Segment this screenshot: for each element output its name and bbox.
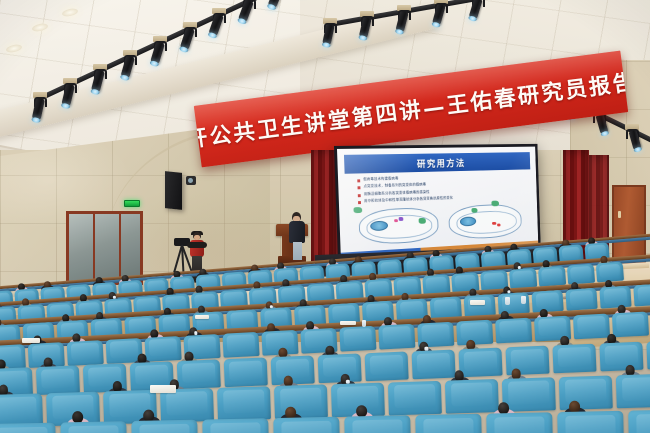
auditorium-seat[interactable] xyxy=(144,336,181,362)
bullet-marker-icon xyxy=(358,179,361,182)
auditorium-seat[interactable] xyxy=(445,379,499,414)
auditorium-seat[interactable] xyxy=(339,326,376,352)
lecture-hall-photo: 南开公共卫生讲堂第四讲—王佑春研究员报告会 研究用方法 假病毒技术构建假病毒点突… xyxy=(0,0,650,433)
handout-paper xyxy=(340,321,356,325)
auditorium-seat[interactable] xyxy=(344,415,411,433)
auditorium-seat[interactable] xyxy=(160,388,214,423)
auditorium-seat[interactable] xyxy=(60,421,127,433)
auditorium-seat[interactable] xyxy=(36,365,80,395)
auditorium-seat[interactable] xyxy=(273,417,340,433)
virus-particle xyxy=(419,217,426,223)
auditorium-seat[interactable] xyxy=(388,381,442,416)
surveillance-camera-icon xyxy=(186,176,196,185)
auditorium-seat[interactable] xyxy=(224,357,268,387)
auditorium-seat[interactable] xyxy=(274,384,328,419)
auditorium-seat[interactable] xyxy=(202,418,269,433)
bullet-marker-icon xyxy=(358,201,361,204)
slide-title-text: 研究用方法 xyxy=(417,156,466,170)
auditorium-seat[interactable] xyxy=(633,284,650,307)
auditorium-seat[interactable] xyxy=(486,412,553,433)
slide-figures xyxy=(352,201,527,249)
water-bottle xyxy=(505,297,510,305)
gene-bar-track xyxy=(463,229,509,236)
protein-marker xyxy=(394,219,398,222)
virus-particle xyxy=(491,201,499,207)
auditorium-seat[interactable] xyxy=(0,423,56,433)
slide-bullet-text: 用中和抗体及中和性单克隆抗体分析各突变株抗原性的变化 xyxy=(364,195,453,203)
nucleus-shape xyxy=(460,216,476,226)
wall-speaker xyxy=(165,171,182,210)
antibody-marker xyxy=(492,222,496,225)
water-bottle xyxy=(521,296,526,304)
protein-marker xyxy=(399,217,404,221)
operator-arms xyxy=(187,242,207,248)
slide-bullet-text: 假病毒技术构建假病毒 xyxy=(363,177,398,182)
auditorium-seat[interactable] xyxy=(559,375,613,410)
auditorium-seat[interactable] xyxy=(646,340,650,370)
slide-bullet-text: 点突变技术，制备系列的突变体的假病毒 xyxy=(363,183,426,189)
auditorium-seat[interactable] xyxy=(531,290,563,313)
handout-paper xyxy=(22,338,40,343)
auditorium-seat[interactable] xyxy=(502,377,556,412)
presentation-slide: 研究用方法 假病毒技术构建假病毒点突变技术，制备系列的突变体的假病毒用酶活细胞系… xyxy=(337,147,538,257)
auditorium-seat[interactable] xyxy=(552,344,596,374)
virus-particle xyxy=(354,207,363,213)
auditorium-seat[interactable] xyxy=(557,411,624,433)
cell-diagram-right xyxy=(448,204,522,240)
auditorium-seat[interactable] xyxy=(628,409,650,433)
side-exit-door[interactable] xyxy=(66,211,143,285)
handout-paper xyxy=(150,385,176,393)
auditorium-seat[interactable] xyxy=(495,318,532,344)
auditorium-seat[interactable] xyxy=(177,359,221,389)
auditorium-seat[interactable] xyxy=(616,374,650,409)
auditorium-seat[interactable] xyxy=(509,268,537,289)
auditorium-seat[interactable] xyxy=(565,288,597,311)
antibody-marker xyxy=(497,224,500,227)
nucleus-shape xyxy=(371,220,389,231)
water-bottle xyxy=(362,320,366,327)
auditorium-seat[interactable] xyxy=(222,332,259,358)
auditorium-seat[interactable] xyxy=(131,420,198,433)
auditorium-seat[interactable] xyxy=(415,414,482,433)
gene-bar-track xyxy=(374,233,424,240)
auditorium-seat[interactable] xyxy=(599,342,643,372)
presenter-legs xyxy=(293,242,302,260)
emergency-exit-sign xyxy=(124,200,140,207)
auditorium-seat[interactable] xyxy=(599,286,631,309)
auditorium-seat[interactable] xyxy=(573,314,610,340)
projection-screen: 研究用方法 假病毒技术构建假病毒点突变技术，制备系列的突变体的假病毒用酶活细胞系… xyxy=(334,144,541,260)
bullet-marker-icon xyxy=(358,187,361,190)
auditorium-seat[interactable] xyxy=(538,266,566,287)
auditorium-seat[interactable] xyxy=(458,348,502,378)
slide-bullet-text: 用酶活细胞系分析各突变体假病毒的感染性 xyxy=(364,189,430,196)
bullet-marker-icon xyxy=(358,194,361,197)
auditorium-seat[interactable] xyxy=(217,386,271,421)
handout-paper xyxy=(470,300,485,305)
auditorium-seat[interactable] xyxy=(67,340,104,366)
audience-seating-area xyxy=(0,286,650,433)
auditorium-seat[interactable] xyxy=(411,350,455,380)
presenter-torso xyxy=(289,221,305,243)
handout-paper xyxy=(195,315,209,319)
auditorium-seat[interactable] xyxy=(612,311,649,337)
slide-title-bar: 研究用方法 xyxy=(344,153,531,174)
presenter-person xyxy=(289,212,305,258)
auditorium-seat[interactable] xyxy=(365,351,409,381)
virus-particle xyxy=(471,208,477,213)
cell-diagram-left xyxy=(358,207,439,245)
auditorium-seat[interactable] xyxy=(318,353,362,383)
auditorium-seat[interactable] xyxy=(567,264,595,285)
auditorium-seat[interactable] xyxy=(378,324,415,350)
